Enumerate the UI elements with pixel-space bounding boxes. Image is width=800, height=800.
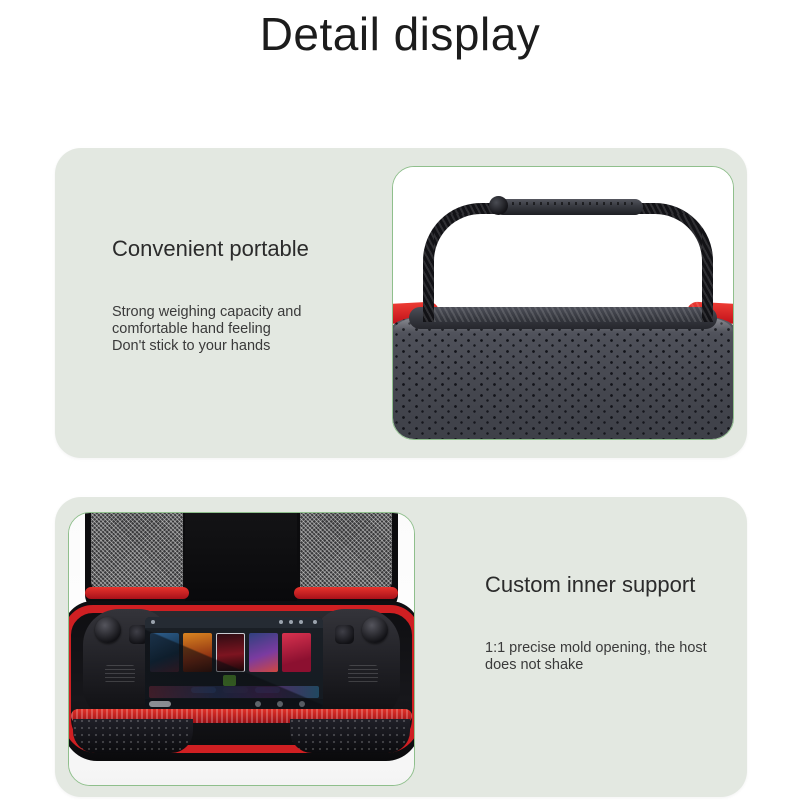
detail-card-convenient-portable: Convenient portable Strong weighing capa… <box>55 148 747 458</box>
card-heading: Convenient portable <box>112 236 402 262</box>
lid-red-trim-left <box>85 587 189 599</box>
game-cover-tile <box>183 633 212 672</box>
product-photo-stage <box>69 513 414 785</box>
game-cover-tile <box>150 633 179 672</box>
screen-icon <box>151 620 155 624</box>
speaker-grille-right <box>348 665 378 683</box>
handle-grip-bar <box>495 199 643 215</box>
carry-handle-closeup-photo <box>392 166 734 440</box>
card-body: Strong weighing capacity and comfortable… <box>112 304 402 355</box>
status-pill <box>149 701 171 707</box>
speaker-grille-left <box>105 665 135 683</box>
card-body: 1:1 precise mold opening, the host does … <box>485 640 780 674</box>
card-body-line: 1:1 precise mold opening, the host <box>485 640 780 657</box>
game-cover-tile <box>282 633 311 672</box>
game-cover-row <box>150 633 311 672</box>
product-photo-stage <box>393 167 733 439</box>
game-cover-tile-selected <box>216 633 245 672</box>
status-icon <box>299 701 305 707</box>
page-title: Detail display <box>0 4 800 64</box>
screen-icon <box>313 620 317 624</box>
game-cover-tile <box>249 633 278 672</box>
card-text-block: Custom inner support 1:1 precise mold op… <box>485 572 780 674</box>
status-icon <box>255 701 261 707</box>
status-icon <box>277 701 283 707</box>
mesh-pocket-right <box>300 512 392 595</box>
card-text-block: Convenient portable Strong weighing capa… <box>112 236 402 355</box>
case-foot-right <box>290 719 410 753</box>
lid-elastic-strap <box>185 512 297 611</box>
mesh-pocket-left <box>91 512 183 595</box>
library-shelf-row <box>149 686 319 698</box>
detail-card-custom-inner-support: Custom inner support 1:1 precise mold op… <box>55 497 747 797</box>
thumbstick-right <box>362 617 388 643</box>
open-case-with-handheld-photo <box>68 512 415 786</box>
screen-status-bar <box>145 699 323 709</box>
screen-icon <box>289 620 293 624</box>
console-screen <box>145 617 323 709</box>
perforated-case-body <box>392 317 734 440</box>
card-body-line: Don't stick to your hands <box>112 338 402 355</box>
card-body-line: does not shake <box>485 657 780 674</box>
screen-icon <box>279 620 283 624</box>
card-body-line: comfortable hand feeling <box>112 321 402 338</box>
case-foot-left <box>73 719 193 753</box>
lid-red-trim-right <box>294 587 398 599</box>
braided-carry-strap <box>423 203 713 322</box>
case-lid-mesh-pocket <box>85 512 398 611</box>
play-button-icon <box>223 675 236 686</box>
card-heading: Custom inner support <box>485 572 780 598</box>
screen-top-bar <box>145 617 323 628</box>
trackpad-right <box>335 625 354 644</box>
strap-knot <box>489 196 508 215</box>
thumbstick-left <box>95 617 121 643</box>
card-body-line: Strong weighing capacity and <box>112 304 402 321</box>
screen-icon <box>299 620 303 624</box>
